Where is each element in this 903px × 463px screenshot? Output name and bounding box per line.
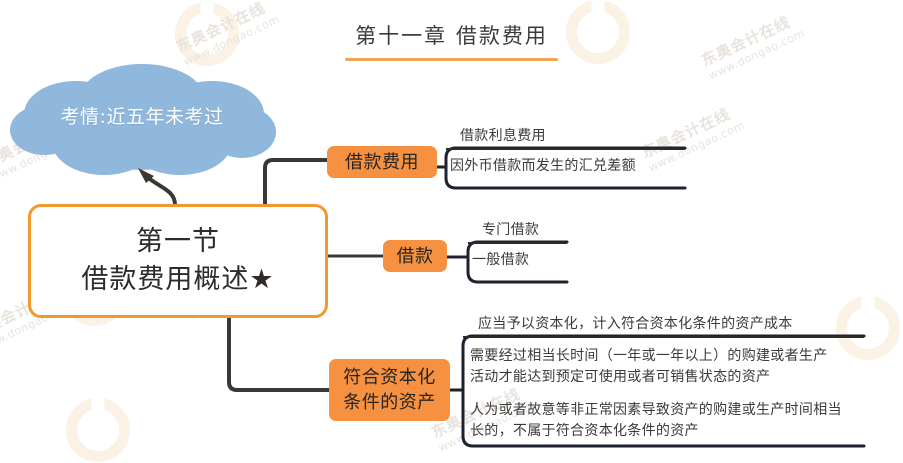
root-node-line1: 第一节: [136, 223, 220, 261]
watermark-ring-icon: [66, 398, 130, 462]
leaf-fx-difference: 因外币借款而发生的汇兑差额: [450, 156, 700, 177]
branch-label-capitalization-assets[interactable]: 符合资本化 条件的资产: [329, 359, 450, 421]
leaf-capitalize-into-asset-cost: 应当予以资本化，计入符合资本化条件的资产成本: [478, 314, 898, 335]
cloud-pointer-line: [146, 176, 175, 205]
leaf-line: 需要经过相当长时间（一年或一年以上）的购建或者生产: [470, 346, 890, 367]
connector-root-to-capitalization-assets: [229, 318, 329, 390]
leaf-general-borrowing: 一般借款: [472, 250, 632, 271]
page-title: 第十一章 借款费用: [0, 22, 903, 50]
note-cloud: 考情:近五年未考过: [8, 62, 276, 180]
branch-label-borrowings[interactable]: 借款: [383, 240, 447, 272]
branch-label-line1: 符合资本化: [343, 365, 436, 390]
leaf-line: 长的，不属于符合资本化条件的资产: [470, 421, 890, 442]
branch-label-text: 借款: [397, 244, 434, 269]
leaf-divider: [446, 148, 685, 150]
leaf-specific-borrowing: 专门借款: [482, 220, 642, 241]
leaf-abnormal-delay-exclusion: 人为或者故意等非正常因素导致资产的购建或生产时间相当 长的，不属于符合资本化条件…: [470, 400, 890, 442]
branch-label-line2: 条件的资产: [343, 390, 436, 415]
leaf-line: 人为或者故意等非正常因素导致资产的购建或生产时间相当: [470, 400, 890, 421]
mindmap-canvas: 东奥会计在线 www.dongao.com 东奥会计在线 www.dongao.…: [0, 0, 903, 463]
leaf-line: 应当予以资本化，计入符合资本化条件的资产成本: [478, 314, 898, 335]
leaf-borrowing-interest-expense: 借款利息费用: [460, 126, 700, 147]
title-underline: [345, 58, 558, 61]
leaf-divider: [468, 242, 567, 244]
leaf-line: 活动才能达到预定可使用或者可销售状态的资产: [470, 367, 890, 388]
leaf-long-period-asset-definition: 需要经过相当长时间（一年或一年以上）的购建或者生产 活动才能达到预定可使用或者可…: [470, 346, 890, 388]
root-node[interactable]: 第一节 借款费用概述★: [28, 204, 328, 318]
branch-label-text: 借款费用: [345, 150, 419, 175]
leaf-divider: [463, 336, 864, 338]
note-cloud-label: 考情:近五年未考过: [8, 102, 276, 129]
page-title-block: 第十一章 借款费用: [0, 22, 903, 61]
root-node-line2: 借款费用概述★: [81, 261, 274, 299]
branch-label-borrowing-costs[interactable]: 借款费用: [327, 146, 437, 178]
